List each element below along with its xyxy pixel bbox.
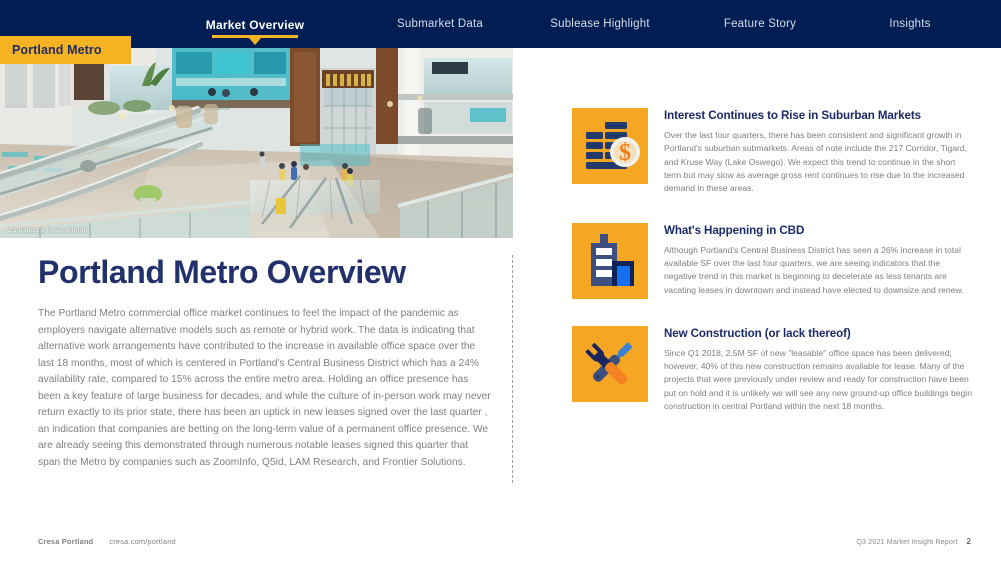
highlight-title: What's Happening in CBD (664, 224, 972, 237)
page-title: Portland Metro Overview (38, 255, 493, 290)
overview-body-text: The Portland Metro commercial office mar… (38, 306, 493, 471)
vertical-dashed-divider (512, 255, 513, 483)
highlight-body: Since Q1 2018, 2.5M SF of new "leasable"… (664, 347, 972, 414)
hero-atrium-illustration (0, 48, 513, 238)
footer-brand: Cresa Portland (38, 537, 93, 546)
top-navigation-bar: Market Overview Submarket Data Sublease … (0, 0, 1001, 48)
footer-url[interactable]: cresa.com/portland (109, 537, 175, 546)
highlight-title: New Construction (or lack thereof) (664, 327, 972, 340)
tab-market-overview-label: Market Overview (150, 18, 360, 32)
hero-image-caption: US Bancorp Tower interior (7, 227, 88, 234)
highlight-text-wrapper: What's Happening in CBD Although Portlan… (664, 223, 972, 299)
highlight-body: Over the last four quarters, there has b… (664, 129, 972, 196)
footer-page-number: 2 (967, 537, 971, 546)
highlight-text-wrapper: New Construction (or lack thereof) Since… (664, 326, 972, 414)
tab-insights[interactable]: Insights (840, 18, 980, 30)
tab-sublease-highlight-label: Sublease Highlight (520, 18, 680, 30)
footer-left: Cresa Portland cresa.com/portland (38, 537, 176, 546)
tab-submarket-data-label: Submarket Data (360, 18, 520, 30)
tab-feature-story[interactable]: Feature Story (680, 18, 840, 30)
footer-report-label: Q3 2021 Market Insight Report (856, 537, 957, 546)
bar-chart-dollar-icon: $ (572, 108, 648, 184)
highlight-item-new-construction: New Construction (or lack thereof) Since… (572, 326, 972, 414)
highlight-title: Interest Continues to Rise in Suburban M… (664, 109, 972, 122)
overview-section: Portland Metro Overview The Portland Met… (38, 255, 493, 471)
highlight-text-wrapper: Interest Continues to Rise in Suburban M… (664, 108, 972, 196)
highlight-item-cbd: What's Happening in CBD Although Portlan… (572, 223, 972, 299)
tab-market-overview[interactable]: Market Overview (150, 18, 360, 32)
highlight-item-suburban-markets: $ Interest Continues to Rise in Suburban… (572, 108, 972, 196)
tab-submarket-data[interactable]: Submarket Data (360, 18, 520, 30)
svg-text:$: $ (619, 140, 631, 166)
highlights-column: $ Interest Continues to Rise in Suburban… (572, 108, 972, 440)
highlight-body: Although Portland's Central Business Dis… (664, 244, 972, 297)
portland-metro-badge: Portland Metro (0, 36, 131, 64)
tab-feature-story-label: Feature Story (680, 18, 840, 30)
portland-metro-badge-label: Portland Metro (12, 43, 102, 57)
tab-sublease-highlight[interactable]: Sublease Highlight (520, 18, 680, 30)
office-building-icon (572, 223, 648, 299)
tab-insights-label: Insights (840, 18, 980, 30)
active-tab-caret-icon (249, 38, 261, 45)
hero-image: US Bancorp Tower interior (0, 48, 513, 238)
footer-right: Q3 2021 Market Insight Report 2 (856, 537, 971, 546)
nav-items: Market Overview Submarket Data Sublease … (150, 0, 1001, 48)
tools-wrench-screwdriver-icon (572, 326, 648, 402)
